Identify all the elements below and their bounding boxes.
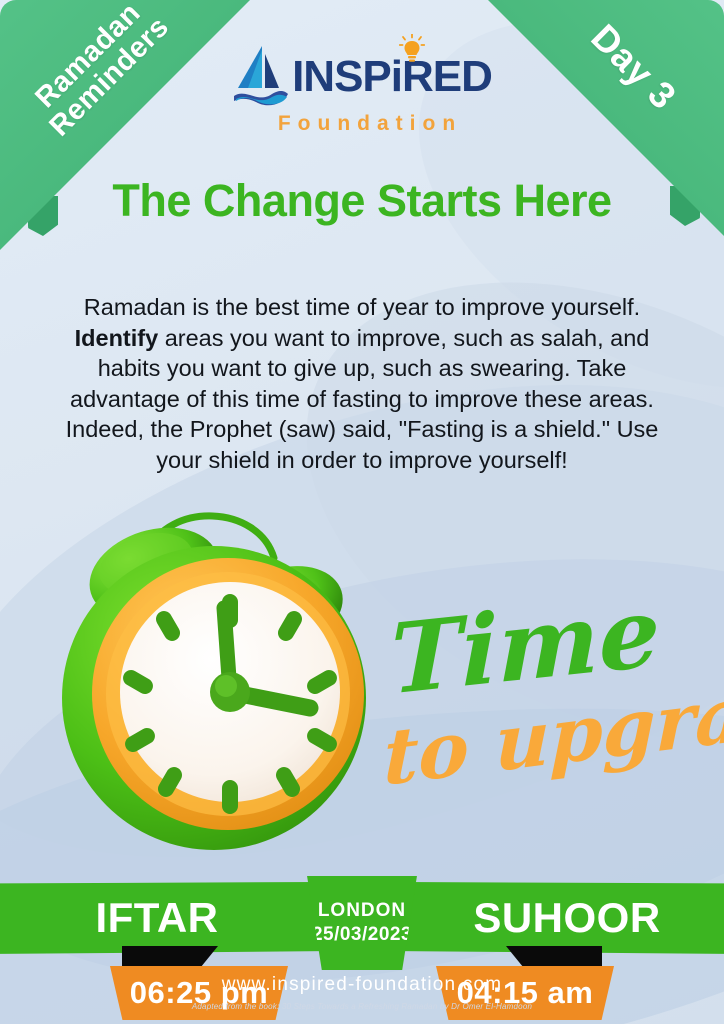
credit-line: Adapted from the book: 30 Steps Towards … — [0, 1002, 724, 1011]
logo-wordmark-text: INSPiRED — [292, 52, 492, 101]
script-artwork: Time to upgrade — [374, 585, 714, 800]
logo-row: INSPiRED — [232, 44, 492, 110]
body-text-part1: Ramadan is the best time of year to impr… — [84, 294, 640, 320]
logo-subtext: Foundation — [278, 112, 462, 136]
body-paragraph: Ramadan is the best time of year to impr… — [48, 292, 676, 475]
city-date-badge: LONDON 25/03/2023 — [295, 876, 429, 970]
suhoor-label: SUHOOR — [473, 894, 660, 942]
page-title: The Change Starts Here — [0, 175, 724, 227]
alarm-clock-icon — [42, 480, 382, 850]
website-url[interactable]: www.inspired-foundation.com — [0, 974, 724, 996]
brand-logo: INSPiRED Foundation — [0, 44, 724, 136]
ramadan-reminder-poster: Ramadan Reminders Day 3 INSPiRED — [0, 0, 724, 1024]
iftar-label: IFTAR — [95, 894, 218, 942]
logo-wordmark: INSPiRED — [292, 55, 492, 99]
body-text-emphasis: Identify — [75, 325, 159, 351]
sailboat-icon — [232, 44, 290, 110]
iftar-banner: IFTAR — [0, 882, 322, 954]
footer-bar: IFTAR SUHOOR LONDON 25/03/2023 06:25 pm … — [0, 874, 724, 1024]
city-label: LONDON — [318, 899, 406, 923]
suhoor-banner: SUHOOR — [402, 882, 724, 954]
lightbulb-icon — [399, 34, 425, 64]
alarm-clock-illustration — [42, 480, 382, 850]
date-label: 25/03/2023 — [312, 923, 412, 947]
